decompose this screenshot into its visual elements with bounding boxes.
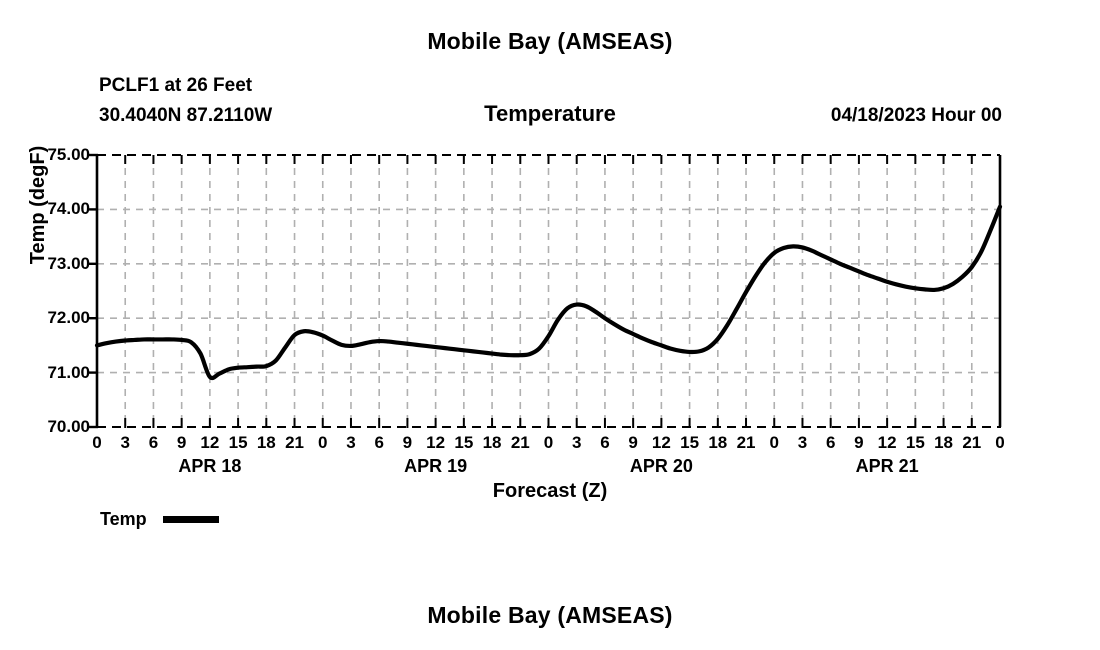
station-depth-label: PCLF1 at 26 Feet	[99, 76, 252, 95]
x-tick-label: 21	[957, 434, 987, 451]
x-tick-label: 3	[787, 434, 817, 451]
x-tick-label: 15	[223, 434, 253, 451]
x-tick-label: 21	[280, 434, 310, 451]
chart-title-top: Mobile Bay (AMSEAS)	[0, 30, 1100, 53]
x-axis-day-label: APR 18	[150, 457, 270, 475]
x-tick-label: 6	[590, 434, 620, 451]
x-tick-label: 21	[731, 434, 761, 451]
x-tick-label: 0	[308, 434, 338, 451]
chart-figure: Mobile Bay (AMSEAS) PCLF1 at 26 Feet 30.…	[0, 0, 1100, 650]
x-tick-label: 9	[618, 434, 648, 451]
x-axis-day-label: APR 19	[376, 457, 496, 475]
x-tick-label: 18	[251, 434, 281, 451]
x-tick-label: 6	[816, 434, 846, 451]
x-tick-label: 18	[477, 434, 507, 451]
x-tick-label: 15	[675, 434, 705, 451]
y-tick-label: 70.00	[0, 418, 90, 435]
x-tick-label: 21	[505, 434, 535, 451]
x-tick-label: 9	[167, 434, 197, 451]
x-tick-label: 12	[872, 434, 902, 451]
y-tick-label: 75.00	[0, 146, 90, 163]
legend-label-temp: Temp	[100, 510, 147, 528]
x-tick-label: 3	[336, 434, 366, 451]
y-tick-label: 74.00	[0, 200, 90, 217]
model-run-timestamp: 04/18/2023 Hour 00	[831, 106, 1002, 125]
x-tick-label: 6	[364, 434, 394, 451]
x-axis-day-label: APR 21	[827, 457, 947, 475]
x-tick-label: 12	[646, 434, 676, 451]
x-tick-label: 0	[985, 434, 1015, 451]
x-tick-label: 3	[110, 434, 140, 451]
axis-ticks	[89, 155, 1000, 428]
x-tick-label: 9	[392, 434, 422, 451]
x-tick-label: 12	[421, 434, 451, 451]
y-tick-label: 73.00	[0, 255, 90, 272]
x-tick-label: 18	[703, 434, 733, 451]
x-tick-label: 9	[844, 434, 874, 451]
x-tick-label: 18	[929, 434, 959, 451]
plot-canvas	[0, 0, 1100, 650]
y-tick-label: 72.00	[0, 309, 90, 326]
x-tick-label: 0	[534, 434, 564, 451]
x-tick-label: 6	[138, 434, 168, 451]
x-axis-day-label: APR 20	[601, 457, 721, 475]
gridlines	[97, 155, 1000, 427]
x-tick-label: 0	[82, 434, 112, 451]
x-axis-label: Forecast (Z)	[0, 481, 1100, 501]
legend-swatch-temp	[163, 516, 219, 523]
y-tick-label: 71.00	[0, 364, 90, 381]
x-tick-label: 15	[449, 434, 479, 451]
x-tick-label: 3	[562, 434, 592, 451]
x-tick-label: 0	[759, 434, 789, 451]
chart-title-bottom: Mobile Bay (AMSEAS)	[0, 604, 1100, 627]
x-tick-label: 12	[195, 434, 225, 451]
x-tick-label: 15	[900, 434, 930, 451]
